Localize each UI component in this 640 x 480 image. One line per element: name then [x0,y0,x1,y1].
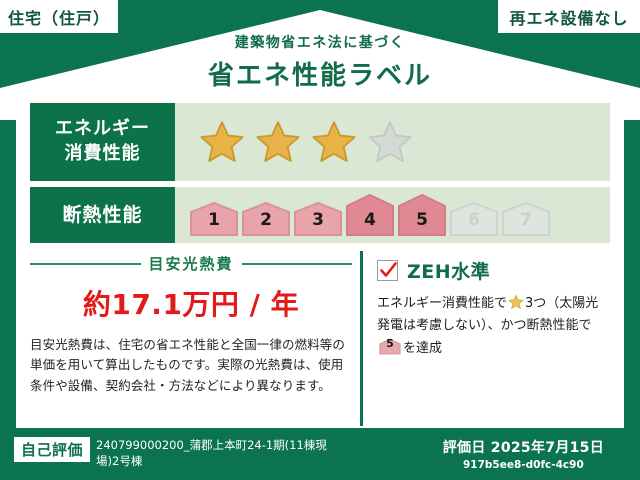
zeh-section: ZEH水準 エネルギー消費性能で3つ（太陽光発電は考慮しない）、かつ断熱性能で5… [360,251,610,426]
utility-cost-note: 目安光熱費は、住宅の省エネ性能と全国一律の燃料等の単価を用いて算出したものです。… [30,335,352,396]
evaluation-hash: 917b5ee8-d0fc-4c90 [443,459,604,471]
insulation-grade-value: 2 [241,210,291,230]
title-subtitle: 建築物省エネ法に基づく [0,32,640,52]
zeh-title: ZEH水準 [407,257,490,284]
star-icon [508,294,524,310]
insulation-grade-badge: 2 [241,201,291,237]
self-evaluation-badge: 自己評価 [14,437,90,462]
insulation-performance-row: 断熱性能 1234567 [30,187,610,243]
energy-performance-label-line1: エネルギー [55,117,150,142]
star-icon-filled [255,120,301,164]
zeh-description: エネルギー消費性能で3つ（太陽光発電は考慮しない）、かつ断熱性能で5を達成 [377,293,610,360]
evaluation-date: 評価日 2025年7月15日 [443,437,604,457]
title-main: 省エネ性能ラベル [0,55,640,92]
utility-cost-value: 約17.1万円 / 年 [30,283,352,323]
project-id-text: 240799000200_蒲郡上本町24-1期(11棟現場)2号棟 [96,437,346,469]
insulation-performance-label: 断熱性能 [30,187,175,243]
insulation-grade-badge: 4 [345,193,395,237]
insulation-grade-badge: 5 [397,193,447,237]
star-rating [175,103,610,181]
inline-grade-badge: 5 [379,338,401,355]
insulation-grade-badge: 6 [449,201,499,237]
energy-performance-label-line2: 消費性能 [65,142,141,167]
insulation-performance-label-text: 断熱性能 [62,202,142,228]
utility-cost-heading: 目安光熱費 [30,253,352,274]
building-type-tag-label: 住宅（住戸） [8,5,110,29]
insulation-grade-value: 4 [345,210,395,230]
zeh-checkbox[interactable] [377,260,398,281]
star-icon-filled [199,120,245,164]
utility-cost-heading-label: 目安光熱費 [149,253,234,274]
inline-grade-value: 5 [379,335,401,354]
heading-rule-right [242,263,353,265]
insulation-grade-badge: 7 [501,201,551,237]
insulation-grade-badge: 1 [189,201,239,237]
zeh-description-part1: エネルギー消費性能で [377,296,507,311]
label-card: エネルギー 消費性能 断熱性能 1234567 目安光熱費 約17.1万 [16,93,624,428]
lower-section: 目安光熱費 約17.1万円 / 年 目安光熱費は、住宅の省エネ性能と全国一律の燃… [30,251,610,426]
renewable-energy-tag: 再エネ設備なし [498,0,640,33]
page-title: 建築物省エネ法に基づく 省エネ性能ラベル [0,32,640,92]
energy-performance-label: 住宅（住戸） 再エネ設備なし 建築物省エネ法に基づく 省エネ性能ラベル エネルギ… [0,0,640,480]
insulation-grade-value: 1 [189,210,239,230]
star-icon-empty [367,120,413,164]
insulation-grade-badge: 3 [293,201,343,237]
insulation-grade-value: 5 [397,210,447,230]
star-icon-filled [311,120,357,164]
insulation-grade-value: 3 [293,210,343,230]
utility-cost-section: 目安光熱費 約17.1万円 / 年 目安光熱費は、住宅の省エネ性能と全国一律の燃… [30,251,360,426]
renewable-energy-tag-label: 再エネ設備なし [509,5,628,29]
label-footer: 自己評価 240799000200_蒲郡上本町24-1期(11棟現場)2号棟 評… [0,428,640,480]
building-type-tag: 住宅（住戸） [0,0,118,33]
insulation-grade-value: 7 [501,210,551,230]
energy-performance-row: エネルギー 消費性能 [30,103,610,181]
zeh-description-part3: を達成 [403,341,442,356]
check-icon [379,261,398,280]
insulation-grade-value: 6 [449,210,499,230]
energy-performance-label: エネルギー 消費性能 [30,103,175,181]
zeh-header: ZEH水準 [377,257,610,284]
heading-rule-left [30,263,141,265]
insulation-grade-scale: 1234567 [189,193,551,237]
